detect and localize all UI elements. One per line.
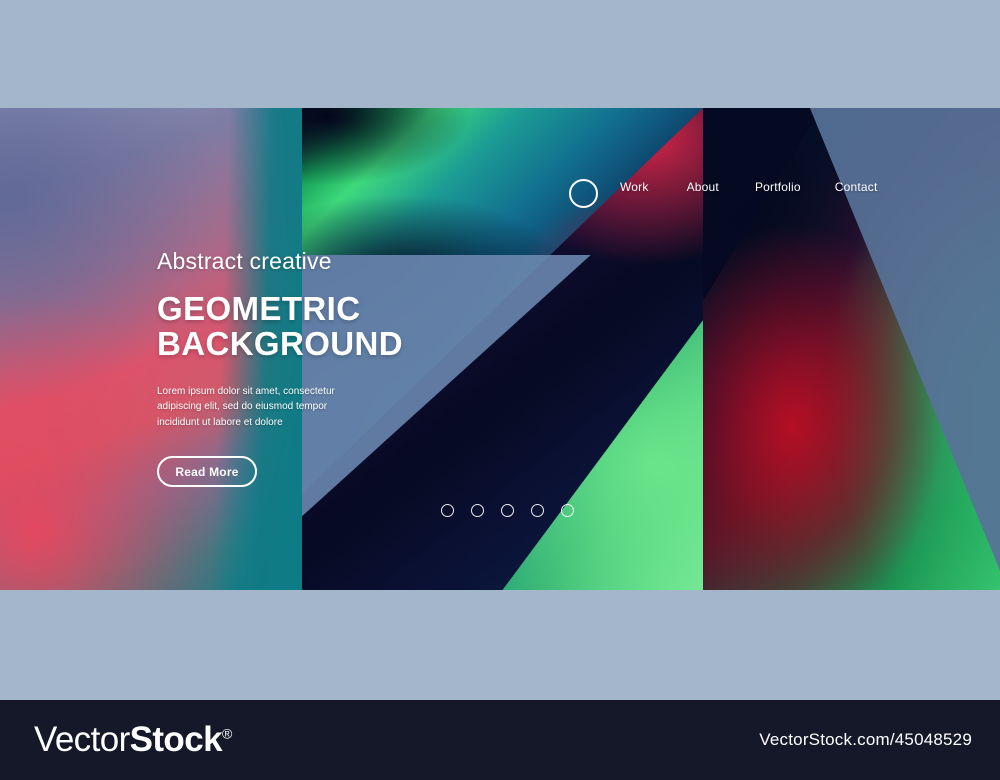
- screenshot-stage: Work About Portfolio Contact Abstract cr…: [0, 0, 1000, 780]
- hero-title-line-2: BACKGROUND: [157, 326, 577, 361]
- carousel-pagination: [441, 504, 574, 517]
- registered-trademark-icon: ®: [222, 725, 232, 741]
- vectorstock-logo-bold: Stock: [130, 720, 222, 759]
- carousel-dot[interactable]: [531, 504, 544, 517]
- vectorstock-logo-thin: Vector: [34, 720, 130, 759]
- hero-title-line-1: GEOMETRIC: [157, 291, 577, 326]
- circle-ring-logo-icon[interactable]: [569, 179, 598, 208]
- nav-links: Work About Portfolio Contact: [620, 180, 878, 194]
- site-navigation: Work About Portfolio Contact: [0, 180, 1000, 220]
- carousel-dot[interactable]: [501, 504, 514, 517]
- hero-section: Abstract creative GEOMETRIC BACKGROUND L…: [157, 248, 577, 487]
- carousel-dot[interactable]: [471, 504, 484, 517]
- nav-link-about[interactable]: About: [687, 180, 719, 194]
- hero-eyebrow: Abstract creative: [157, 248, 577, 275]
- vectorstock-logo: VectorStock®: [34, 720, 232, 760]
- watermark-footer: VectorStock® VectorStock.com/45048529: [0, 700, 1000, 780]
- carousel-dot[interactable]: [441, 504, 454, 517]
- hero-title: GEOMETRIC BACKGROUND: [157, 291, 577, 362]
- nav-link-work[interactable]: Work: [620, 180, 649, 194]
- nav-link-contact[interactable]: Contact: [835, 180, 878, 194]
- read-more-button[interactable]: Read More: [157, 456, 257, 487]
- carousel-dot[interactable]: [561, 504, 574, 517]
- nav-link-portfolio[interactable]: Portfolio: [755, 180, 801, 194]
- landing-page-artboard: Work About Portfolio Contact Abstract cr…: [0, 108, 1000, 590]
- vectorstock-url: VectorStock.com/45048529: [759, 730, 972, 750]
- hero-subtext: Lorem ipsum dolor sit amet, consectetur …: [157, 384, 357, 431]
